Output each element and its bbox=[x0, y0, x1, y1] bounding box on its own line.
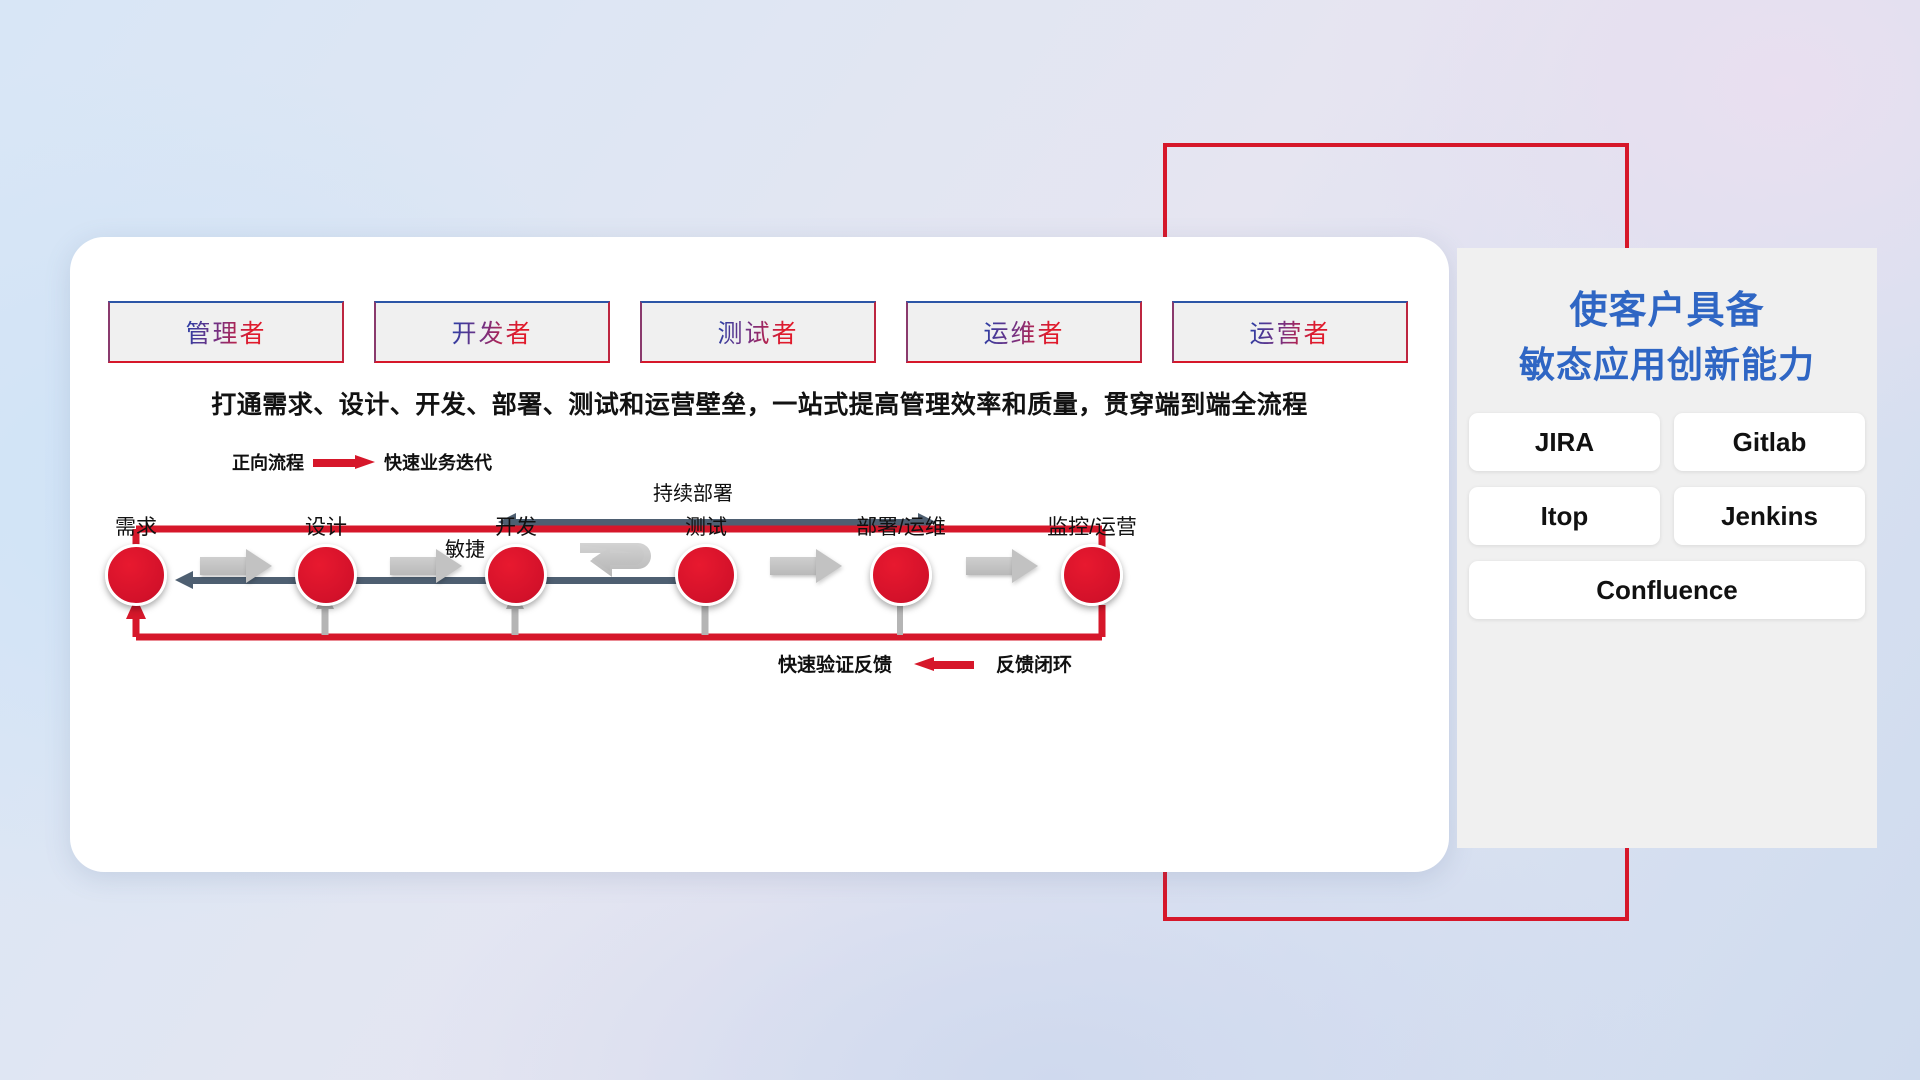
stage-requirements[interactable]: 需求 bbox=[76, 511, 196, 606]
gray-arrow-icon-2 bbox=[390, 549, 462, 583]
forward-flow-caption: 正向流程 快速业务迭代 bbox=[232, 449, 492, 475]
tool-chip-itop[interactable]: Itop bbox=[1469, 487, 1660, 545]
role-label: 运营者 bbox=[1249, 314, 1330, 350]
stage-design[interactable]: 设计 bbox=[266, 511, 386, 606]
main-diagram-card: 管理者 开发者 测试者 运维者 运营者 打通需求、设计、开发、部署、测试和运营壁… bbox=[70, 237, 1449, 872]
tool-chip-jenkins[interactable]: Jenkins bbox=[1674, 487, 1865, 545]
stage-dot-icon bbox=[1061, 544, 1123, 606]
value-proposition-panel: 使客户具备 敏态应用创新能力 JIRA Gitlab Itop Jenkins … bbox=[1457, 248, 1877, 848]
stage-label: 部署/运维 bbox=[841, 511, 961, 541]
stage-label: 开发 bbox=[456, 511, 576, 541]
stage-label: 需求 bbox=[76, 511, 196, 541]
pipeline-stage-row: 需求 设计 开发 bbox=[70, 511, 1449, 621]
role-box-row: 管理者 开发者 测试者 运维者 运营者 bbox=[108, 301, 1408, 363]
stage-dot-icon bbox=[105, 544, 167, 606]
role-label: 运维者 bbox=[983, 314, 1064, 350]
stage-develop[interactable]: 开发 bbox=[456, 511, 576, 606]
stage-label: 设计 bbox=[266, 511, 386, 541]
tool-chip-confluence[interactable]: Confluence bbox=[1469, 561, 1865, 619]
tool-chip-gitlab[interactable]: Gitlab bbox=[1674, 413, 1865, 471]
stage-label: 测试 bbox=[646, 511, 766, 541]
stage-dot-icon bbox=[485, 544, 547, 606]
tool-chip-grid: JIRA Gitlab Itop Jenkins Confluence bbox=[1469, 413, 1865, 619]
stage-deploy-ops[interactable]: 部署/运维 bbox=[841, 511, 961, 606]
stage-dot-icon bbox=[295, 544, 357, 606]
stage-label: 监控/运营 bbox=[1032, 511, 1152, 541]
role-box-manager[interactable]: 管理者 bbox=[108, 301, 344, 363]
stage-dot-icon bbox=[675, 544, 737, 606]
panel-title-line-1: 使客户具备 bbox=[1569, 290, 1764, 332]
role-label: 管理者 bbox=[185, 314, 266, 350]
role-label: 开发者 bbox=[451, 314, 532, 350]
panel-title: 使客户具备 敏态应用创新能力 bbox=[1457, 284, 1877, 391]
red-left-arrow-icon bbox=[914, 657, 974, 671]
red-right-arrow-icon bbox=[313, 455, 375, 469]
gray-arrow-icon-3 bbox=[770, 549, 842, 583]
role-label: 测试者 bbox=[717, 314, 798, 350]
gray-arrow-icon-4 bbox=[966, 549, 1038, 583]
feedback-right-label: 反馈闭环 bbox=[996, 650, 1072, 677]
role-box-operations[interactable]: 运营者 bbox=[1172, 301, 1408, 363]
continuous-deploy-label: 持续部署 bbox=[653, 477, 733, 506]
tool-chip-jira[interactable]: JIRA bbox=[1469, 413, 1660, 471]
role-box-ops[interactable]: 运维者 bbox=[906, 301, 1142, 363]
feedback-left-label: 快速验证反馈 bbox=[778, 650, 892, 677]
forward-flow-right-label: 快速业务迭代 bbox=[384, 449, 492, 475]
stage-test[interactable]: 测试 bbox=[646, 511, 766, 606]
diagram-canvas: 管理者 开发者 测试者 运维者 运营者 打通需求、设计、开发、部署、测试和运营壁… bbox=[0, 0, 1920, 1080]
stage-monitor-operations[interactable]: 监控/运营 bbox=[1032, 511, 1152, 606]
panel-title-line-2: 敏态应用创新能力 bbox=[1457, 339, 1877, 391]
gray-arrow-icon-1 bbox=[200, 549, 272, 583]
role-box-tester[interactable]: 测试者 bbox=[640, 301, 876, 363]
stage-dot-icon bbox=[870, 544, 932, 606]
role-box-developer[interactable]: 开发者 bbox=[374, 301, 610, 363]
description-text: 打通需求、设计、开发、部署、测试和运营壁垒，一站式提高管理效率和质量，贯穿端到端… bbox=[70, 385, 1449, 421]
forward-flow-left-label: 正向流程 bbox=[232, 449, 304, 475]
feedback-caption: 快速验证反馈 反馈闭环 bbox=[778, 650, 1072, 677]
